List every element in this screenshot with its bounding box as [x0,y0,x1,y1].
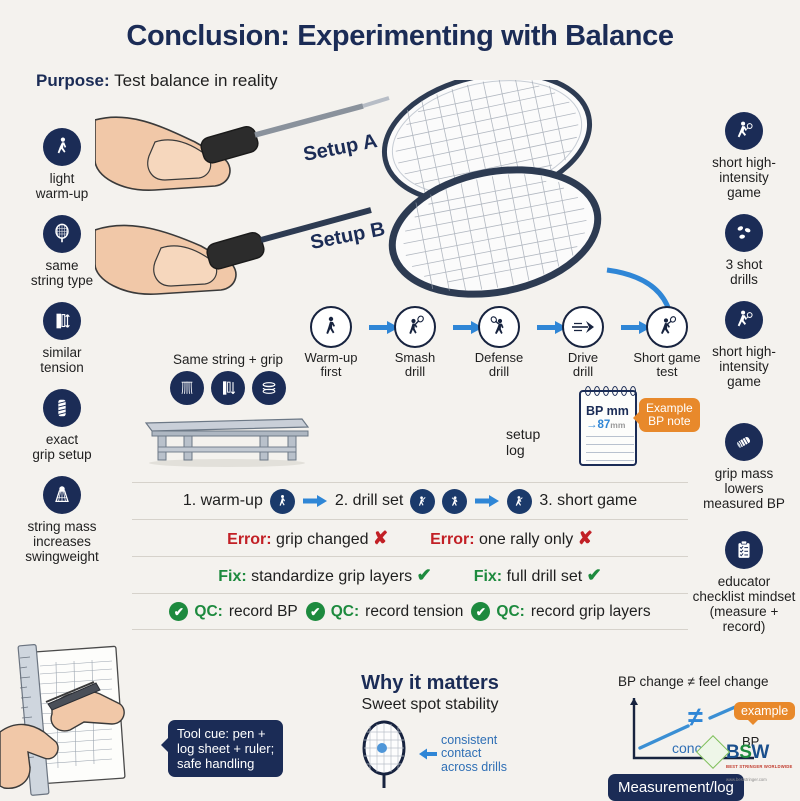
flow-step-defense[interactable]: Defense drill [463,306,535,379]
error-item-1: Error: grip changed ✘ [227,528,388,549]
notepad-bp-number: →87 [586,419,610,431]
racket-illustration: Setup A Setup B [95,80,705,320]
rail-item-similar-tension[interactable]: similar tension [2,302,122,375]
logo-url: www.beststringer.com [726,777,800,782]
spiral-binding-icon [585,386,636,396]
rail-item-label: short high- intensity game [712,155,776,200]
grip-wrap-icon [43,389,81,427]
rail-item-grip-mass-lowers-bp[interactable]: grip mass lowers measured BP [688,423,800,511]
error-text: one rally only [479,531,573,548]
fix-label: Fix: [474,568,502,585]
infographic-canvas: Conclusion: Experimenting with Balance P… [0,0,800,800]
chart-title: BP change ≠ feel change [618,674,798,689]
grip-roll-icon [725,423,763,461]
flow-step-label: Defense drill [475,351,523,379]
rail-item-label: similar tension [40,345,84,375]
notepad-bp-value: →87mm [586,419,625,431]
running-player-icon [725,301,763,339]
smash-figure-icon [394,306,436,348]
rail-item-label: short high- intensity game [712,344,776,389]
qc-item-1: ✔ QC: record BP [169,602,297,621]
cross-icon: ✘ [373,528,388,548]
qc-label: QC: [194,603,222,621]
grip-layers-icon [252,371,286,405]
qc-row: ✔ QC: record BP ✔ QC: record tension ✔ Q… [132,593,688,630]
qc-item-3: ✔ QC: record grip layers [471,602,650,621]
sequence-step-3-label: 3. short game [539,492,637,510]
fix-text: full drill set [507,568,583,585]
smash-figure-icon [410,489,435,514]
shuttlecock-icon [43,476,81,514]
short-game-figure-icon [507,489,532,514]
qc-text: record tension [365,603,463,621]
flow-step-label: Warm-up first [305,351,358,379]
clipboard-checklist-icon [725,531,763,569]
racket-sweetspot-icon [353,718,415,790]
qc-label: QC: [496,603,524,621]
example-bp-note-callout: Example BP note [639,398,700,432]
flow-step-label: Short game test [633,351,700,379]
fixes-row: Fix: standardize grip layers ✔ Fix: full… [132,556,688,593]
running-player-icon [725,112,763,150]
rail-item-label: 3 shot drills [726,257,763,287]
fix-text: standardize grip layers [251,568,412,585]
sequence-row: 1. warm-up 2. drill set [132,482,688,519]
not-equal-symbol: ≠ [688,702,703,733]
left-arrow-icon [419,748,437,760]
sequence-arrow-icon [303,495,327,507]
rail-item-exact-grip-setup[interactable]: exact grip setup [2,389,122,462]
sweet-spot-diagram: consistent contact across drills [305,718,555,790]
fix-item-1: Fix: standardize grip layers ✔ [218,565,431,586]
fix-label: Fix: [218,568,246,585]
sequence-step-1: 1. warm-up [183,489,295,514]
defense-figure-icon [442,489,467,514]
qc-text: record BP [229,603,298,621]
drill-flow-strip: Warm-up first Smash drill [295,306,695,386]
warmup-figure-icon [310,306,352,348]
rackets-svg [95,80,705,320]
defense-figure-icon [478,306,520,348]
logo-tagline: BEST STRINGER WORLDWIDE [726,764,800,769]
bench-illustration [142,409,312,467]
rail-item-label: grip mass lowers measured BP [703,466,785,511]
notepad-bp-unit: mm [610,420,625,430]
racket-strings-icon [170,371,204,405]
rail-item-light-warmup[interactable]: light warm-up [2,128,122,201]
flow-step-label: Drive drill [568,351,598,379]
flow-step-smash[interactable]: Smash drill [379,306,451,379]
sequence-step-1-label: 1. warm-up [183,492,263,510]
summary-rows: 1. warm-up 2. drill set [132,482,688,630]
tool-cue-callout: Tool cue: pen + log sheet + ruler; safe … [168,720,283,777]
sequence-arrow-icon [475,495,499,507]
check-circle-icon: ✔ [169,602,188,621]
check-circle-icon: ✔ [306,602,325,621]
notepad-bp-header: BP mm [586,404,629,418]
rail-item-label: same string type [31,258,93,288]
rail-item-educator-checklist[interactable]: educator checklist mindset (measure + re… [688,531,800,634]
same-string-grip-group: Same string + grip [148,352,308,472]
tension-gauge-icon [43,302,81,340]
check-icon: ✔ [417,565,432,585]
fix-item-2: Fix: full drill set ✔ [474,565,602,586]
short-game-figure-icon [646,306,688,348]
errors-row: Error: grip changed ✘ Error: one rally o… [132,519,688,556]
page-title: Conclusion: Experimenting with Balance [0,20,800,53]
error-label: Error: [227,531,271,548]
bp-change-chart: BP change ≠ feel change ≠ concept BP exa… [618,674,798,800]
rail-item-label: educator checklist mindset (measure + re… [688,574,800,634]
error-label: Error: [430,531,474,548]
cross-icon: ✘ [578,528,593,548]
flow-step-drive[interactable]: Drive drill [547,306,619,379]
flow-step-short-game[interactable]: Short game test [631,306,703,379]
notepad[interactable]: BP mm →87mm [579,390,637,466]
check-circle-icon: ✔ [471,602,490,621]
qc-label: QC: [331,603,359,621]
rail-item-3-shot-drills[interactable]: 3 shot drills [688,214,800,287]
sequence-step-2-label: 2. drill set [335,492,403,510]
why-it-matters-heading: Why it matters [305,672,555,695]
chart-annotation-example: example [734,702,795,720]
sweet-spot-note: consistent contact across drills [441,734,507,775]
rail-item-short-high-intensity-game-2[interactable]: short high- intensity game [688,301,800,389]
rail-item-label: light warm-up [36,171,89,201]
check-icon: ✔ [587,565,602,585]
qc-item-2: ✔ QC: record tension [306,602,464,621]
bsw-logo: BSW BEST STRINGER WORLDWIDE www.beststri… [726,742,800,782]
why-it-matters-block: Why it matters Sweet spot stability c [305,672,555,790]
error-text: grip changed [276,531,369,548]
error-item-2: Error: one rally only ✘ [430,528,593,549]
logo-letter-s: S [739,742,751,763]
rail-item-string-mass-swingweight[interactable]: string mass increases swingweight [2,476,122,564]
setup-log-label: setup log [506,426,540,458]
logo-letter-w: W [751,742,768,763]
qc-text: record grip layers [531,603,651,621]
sequence-step-2: 2. drill set [335,489,467,514]
warmup-figure-icon [270,489,295,514]
walking-person-icon [43,128,81,166]
racket-strings-icon [43,215,81,253]
logsheet-illustration [0,640,175,800]
right-icon-rail: short high- intensity game 3 shot drills [688,112,800,648]
left-icon-rail: light warm-up same string type [2,128,122,578]
logo-wordmark: BSW [726,742,800,764]
rail-item-same-string-type[interactable]: same string type [2,215,122,288]
rail-item-short-high-intensity-game-1[interactable]: short high- intensity game [688,112,800,200]
rail-item-label: exact grip setup [32,432,91,462]
sequence-step-3: 3. short game [507,489,637,514]
rail-item-label: string mass increases swingweight [25,519,99,564]
why-it-matters-subheading: Sweet spot stability [305,696,555,714]
three-shuttles-icon [725,214,763,252]
drive-arrow-icon [562,306,604,348]
same-string-grip-icons [148,371,308,405]
tension-gauge-icon [211,371,245,405]
same-string-grip-title: Same string + grip [148,352,308,367]
flow-step-label: Smash drill [395,351,435,379]
measurement-log-banner: Measurement/log [608,774,744,801]
